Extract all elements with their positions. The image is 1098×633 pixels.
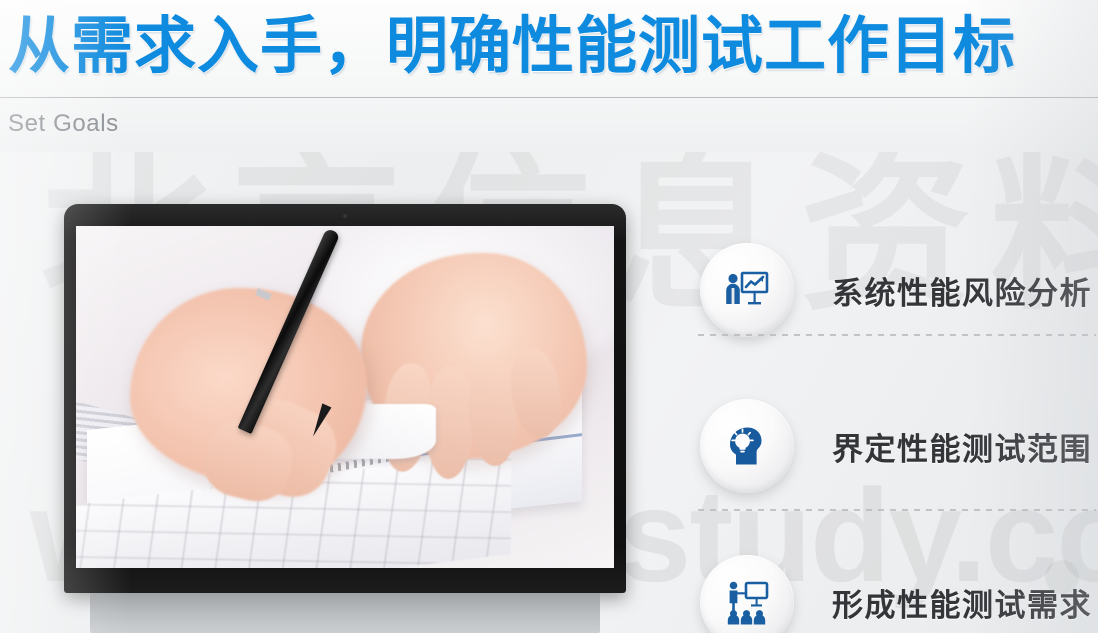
header-divider xyxy=(0,97,1098,98)
page-title: 从需求入手，明确性能测试工作目标 xyxy=(8,14,1016,81)
slide-header: 从需求入手，明确性能测试工作目标 Set Goals xyxy=(0,0,1098,152)
list-separator xyxy=(698,334,1096,336)
slide-canvas: 北京信息资料 www.51atstudy.com 从需求入手，明确性能测试工作目… xyxy=(0,0,1098,633)
laptop-illustration xyxy=(64,204,626,633)
photo-hands-writing xyxy=(76,226,614,568)
list-item[interactable]: 界定性能测试范围 xyxy=(690,378,1098,514)
list-item-label: 系统性能风险分析 xyxy=(832,268,1092,313)
head-lightbulb-icon xyxy=(700,399,794,493)
laptop-lid xyxy=(64,204,626,593)
list-separator xyxy=(698,509,1096,511)
list-item-label: 形成性能测试需求 xyxy=(832,580,1092,625)
webcam-icon xyxy=(342,213,348,219)
page-subtitle: Set Goals xyxy=(8,110,119,138)
list-item[interactable]: 形成性能测试需求 xyxy=(690,534,1098,633)
goals-list: 系统性能风险分析 xyxy=(690,200,1098,633)
laptop-screen xyxy=(76,226,614,568)
list-item-label: 界定性能测试范围 xyxy=(832,424,1092,469)
presentation-chart-icon xyxy=(700,243,794,337)
training-audience-icon xyxy=(700,555,794,633)
list-item[interactable]: 系统性能风险分析 xyxy=(690,222,1098,358)
laptop-base xyxy=(90,593,600,633)
